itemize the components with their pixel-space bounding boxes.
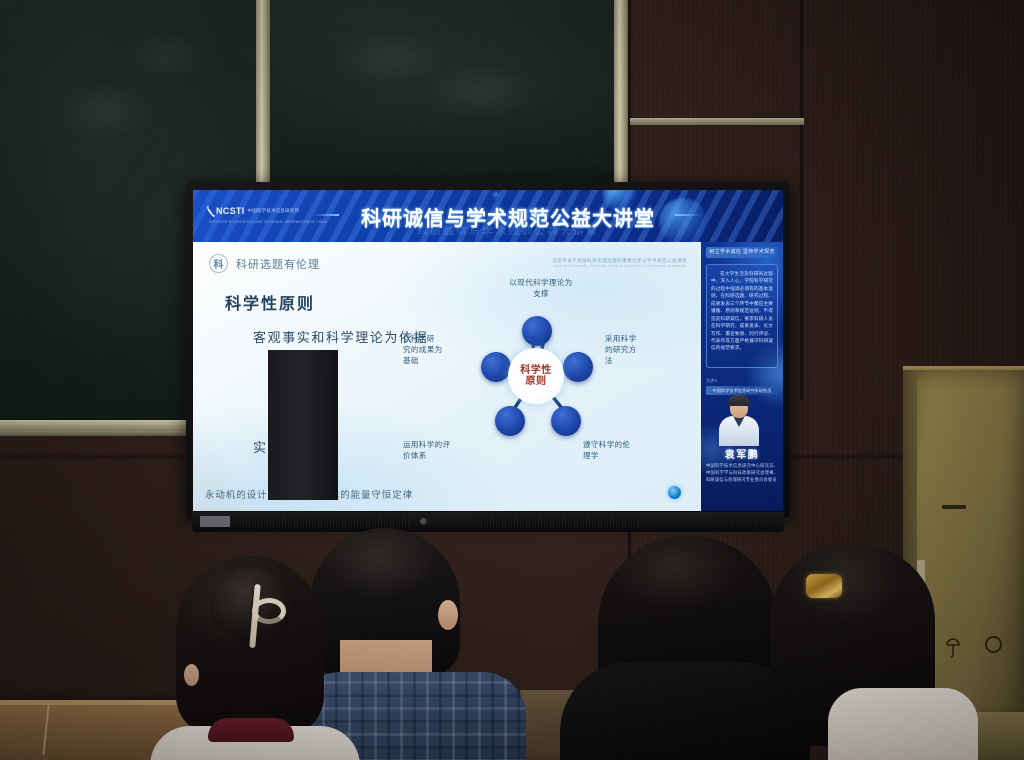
logo-wordmark: NCSTI — [216, 206, 245, 216]
fragile-icon — [985, 636, 1002, 653]
glasses-icon — [731, 405, 747, 409]
ncsti-logo: NCSTI 中国科学技术信息研究所 INSTITUTE OF SCIENTIFI… — [209, 201, 295, 227]
diagram-center-label: 科学性 原则 — [520, 365, 552, 388]
diagram-label-lower-left: 运用科学的评价体系 — [403, 440, 485, 462]
person-4-shirt — [828, 688, 978, 760]
slide-heading: 科学性原则 — [225, 290, 315, 314]
person-1-ear — [184, 664, 199, 686]
board-rail-right — [630, 118, 804, 125]
subtitle-english: General Philosophy, Scientific Integrity… — [552, 264, 687, 268]
shipping-box-handle-slot — [942, 505, 966, 509]
speaker-name: 袁军鹏 — [701, 446, 783, 461]
circle-badge-icon: 科 — [209, 254, 228, 273]
diagram-label-upper-right: 采用科学的研究方法 — [605, 334, 667, 367]
header-rule-right — [675, 214, 701, 216]
soundbar-grille-far-right — [712, 517, 772, 526]
lecture-series-title-reflection: 科研诚信与学术规范公益大讲堂 — [343, 223, 673, 235]
logo-glyph-icon — [206, 205, 217, 218]
rail-description-card: 在大学生活及科研的过程中，深入人心，学院科学研究的过程中强调必须有的基本准则。在… — [706, 264, 778, 368]
chalk-smudge — [51, 81, 161, 141]
slide-section-marker: 科 科研选题有伦理 — [209, 254, 320, 273]
soundbar-grille-right — [478, 517, 638, 526]
wall-seam-2 — [800, 0, 803, 400]
rail-title: 树立学术诚信 坚持学术规范 — [706, 247, 778, 258]
diagram-label-top: 以现代科学理论为支撑 — [493, 278, 589, 300]
diagram-node-top — [522, 316, 552, 346]
chalk-smudge — [121, 31, 211, 81]
soundbar-grille-left — [240, 517, 410, 526]
soundbar-sensor — [420, 518, 427, 525]
logo-chinese-name: 中国科学技术信息研究所 — [248, 208, 300, 214]
rail-description-text: 在大学生活及科研的过程中，深入人心，学院科学研究的过程中强调必须有的基本准则。在… — [711, 270, 773, 352]
radial-node-diagram: 科学性 原则 以现代科学理论为支撑 以科学研究的成果为基础 采用科学的研究方法 … — [429, 276, 649, 476]
speaker-portrait — [715, 394, 763, 446]
diagram-node-upper-right — [563, 352, 593, 382]
diagram-center-node: 科学性 原则 — [508, 348, 564, 404]
board-frame-vertical-left — [256, 0, 270, 185]
board-frame-vertical-right — [614, 0, 628, 190]
page-indicator-dot — [668, 486, 681, 499]
diagram-node-upper-left — [481, 352, 511, 382]
slide-section-subtitle: 习近平关于加强科技伦理治理的重要论述与学术规范公益课程 General Phil… — [552, 258, 687, 268]
slide-side-rail: 树立学术诚信 坚持学术规范 在大学生活及科研的过程中，深入人心，学院科学研究的过… — [701, 242, 783, 511]
display-soundbar — [192, 512, 784, 532]
rail-speaker-tag: 主讲人 — [706, 378, 718, 384]
blackboard-center — [268, 0, 618, 185]
slide-bullet-1: 客观事实和科学理论为依据 — [253, 327, 428, 346]
slide-header-banner: NCSTI 中国科学技术信息研究所 INSTITUTE OF SCIENTIFI… — [193, 190, 783, 242]
diagram-label-upper-left: 以科学研究的成果为基础 — [403, 334, 475, 367]
hair-clip-icon — [806, 574, 842, 598]
diagram-label-lower-right: 遵守科学的伦理学 — [583, 440, 665, 462]
slide-section-label: 科研选题有伦理 — [236, 256, 320, 272]
display-stand — [268, 350, 338, 500]
person-1-collar — [208, 718, 294, 742]
speaker-bio: 中国科学技术信息研究中心研究员、中国科学学与科技政策研究会理事、科研诚信与伦理研… — [706, 462, 778, 484]
soundbar-badge — [200, 516, 230, 527]
diagram-node-lower-right — [551, 406, 581, 436]
logo-subtitle: INSTITUTE OF SCIENTIFIC AND TECHNICAL IN… — [209, 220, 295, 224]
person-2-ear — [438, 600, 458, 630]
lecture-hall-scene: NCSTI 中国科学技术信息研究所 INSTITUTE OF SCIENTIFI… — [0, 0, 1024, 760]
umbrella-icon — [945, 638, 961, 658]
header-rule-left — [313, 214, 339, 216]
hairpin-curl-icon — [252, 598, 286, 624]
subtitle-chinese: 习近平关于加强科技伦理治理的重要论述与学术规范公益课程 — [552, 258, 687, 264]
diagram-node-lower-left — [495, 406, 525, 436]
chalk-smudge — [419, 61, 539, 121]
header-blob — [493, 192, 500, 199]
